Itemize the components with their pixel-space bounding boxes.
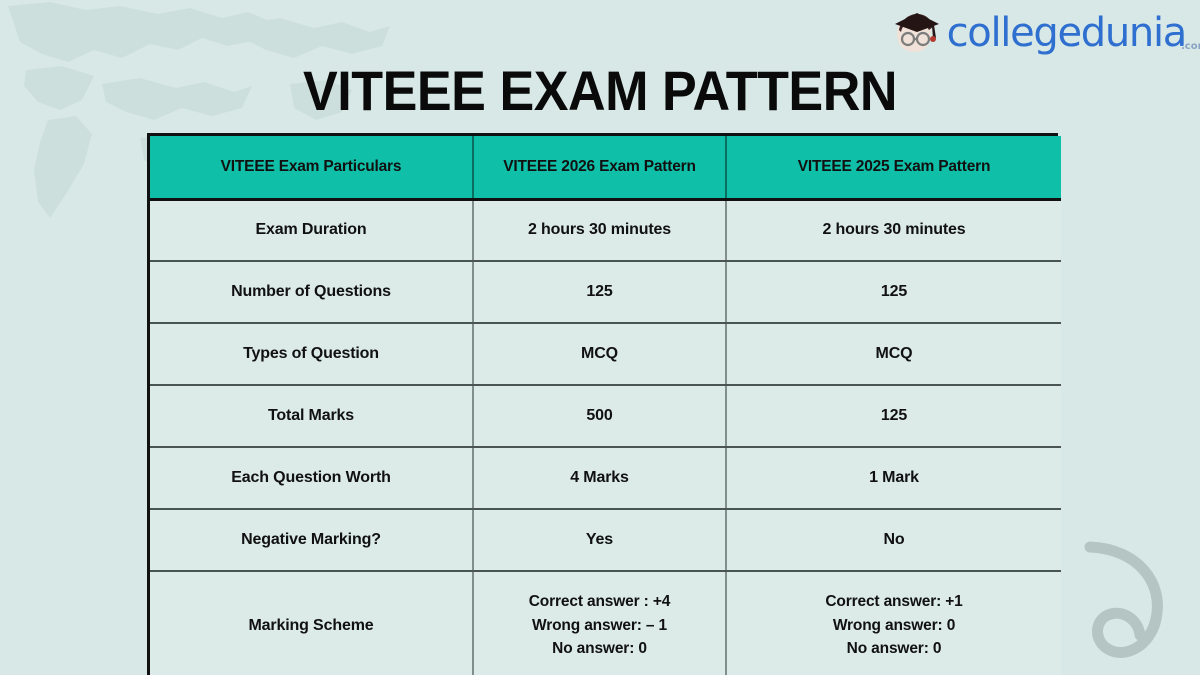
exam-pattern-table: VITEEE Exam Particulars VITEEE 2026 Exam… (150, 136, 1061, 675)
cell-2026: 500 (473, 385, 726, 447)
cell-2026: Yes (473, 509, 726, 571)
collegedunia-logo[interactable]: collegedunia.com (889, 8, 1186, 58)
cell-particular: Negative Marking? (150, 509, 473, 571)
cell-2026: 4 Marks (473, 447, 726, 509)
cell-2026: 125 (473, 261, 726, 323)
cell-2025: 125 (726, 261, 1061, 323)
cell-2025: MCQ (726, 323, 1061, 385)
table-row: Negative Marking? Yes No (150, 509, 1061, 571)
logo-tld: .com (1181, 42, 1200, 52)
table-body: Exam Duration 2 hours 30 minutes 2 hours… (150, 199, 1061, 675)
logo-wordmark: collegedunia.com (947, 13, 1186, 53)
cell-particular: Number of Questions (150, 261, 473, 323)
table-row: Marking Scheme Correct answer : +4 Wrong… (150, 571, 1061, 675)
column-header-2025: VITEEE 2025 Exam Pattern (726, 136, 1061, 199)
scheme-line: No answer: 0 (727, 637, 1061, 661)
scheme-line: No answer: 0 (474, 637, 725, 661)
logo-brand-name: collegedunia (947, 10, 1186, 56)
cell-particular: Exam Duration (150, 199, 473, 261)
exam-pattern-table-container: VITEEE Exam Particulars VITEEE 2026 Exam… (147, 133, 1058, 675)
table-header-row: VITEEE Exam Particulars VITEEE 2026 Exam… (150, 136, 1061, 199)
decorative-swirl (1060, 535, 1190, 675)
cell-2026-marking-scheme: Correct answer : +4 Wrong answer: – 1 No… (473, 571, 726, 675)
cell-particular: Total Marks (150, 385, 473, 447)
cell-2025: 1 Mark (726, 447, 1061, 509)
scheme-line: Correct answer : +4 (474, 590, 725, 614)
cell-particular: Each Question Worth (150, 447, 473, 509)
column-header-2026: VITEEE 2026 Exam Pattern (473, 136, 726, 199)
table-row: Number of Questions 125 125 (150, 261, 1061, 323)
graduate-mascot-icon (889, 8, 941, 58)
cell-2026: 2 hours 30 minutes (473, 199, 726, 261)
cell-particular: Types of Question (150, 323, 473, 385)
table-row: Each Question Worth 4 Marks 1 Mark (150, 447, 1061, 509)
cell-particular: Marking Scheme (150, 571, 473, 675)
cell-2025: No (726, 509, 1061, 571)
scheme-line: Wrong answer: 0 (727, 614, 1061, 638)
page-title: VITEEE EXAM PATTERN (42, 58, 1158, 123)
table-row: Total Marks 500 125 (150, 385, 1061, 447)
cell-2025: 125 (726, 385, 1061, 447)
scheme-line: Wrong answer: – 1 (474, 614, 725, 638)
table-row: Types of Question MCQ MCQ (150, 323, 1061, 385)
column-header-particulars: VITEEE Exam Particulars (150, 136, 473, 199)
scheme-line: Correct answer: +1 (727, 590, 1061, 614)
table-row: Exam Duration 2 hours 30 minutes 2 hours… (150, 199, 1061, 261)
cell-2025: 2 hours 30 minutes (726, 199, 1061, 261)
cell-2025-marking-scheme: Correct answer: +1 Wrong answer: 0 No an… (726, 571, 1061, 675)
cell-2026: MCQ (473, 323, 726, 385)
table-header: VITEEE Exam Particulars VITEEE 2026 Exam… (150, 136, 1061, 199)
